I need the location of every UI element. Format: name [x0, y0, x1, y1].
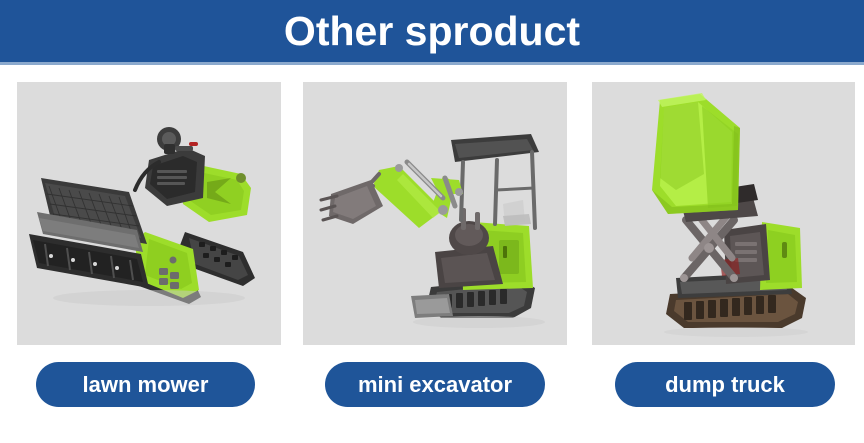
- product-button-lawn-mower[interactable]: lawn mower: [36, 362, 255, 407]
- banner-underline: [0, 62, 864, 65]
- product-button-dump-truck[interactable]: dump truck: [615, 362, 835, 407]
- lawn-mower-image: [17, 82, 281, 345]
- page-title: Other sproduct: [284, 11, 580, 52]
- dump-truck-image: [592, 82, 855, 345]
- product-button-mini-excavator[interactable]: mini excavator: [325, 362, 545, 407]
- product-card-dump-truck[interactable]: [592, 82, 855, 345]
- product-card-mini-excavator[interactable]: [303, 82, 567, 345]
- product-card-row: [0, 82, 864, 345]
- page-banner: Other sproduct: [0, 0, 864, 62]
- product-showcase-page: Other sproduct: [0, 0, 864, 443]
- product-label-row: lawn mower mini excavator dump truck: [0, 362, 864, 410]
- mini-excavator-image: [303, 82, 567, 345]
- product-card-lawn-mower[interactable]: [17, 82, 281, 345]
